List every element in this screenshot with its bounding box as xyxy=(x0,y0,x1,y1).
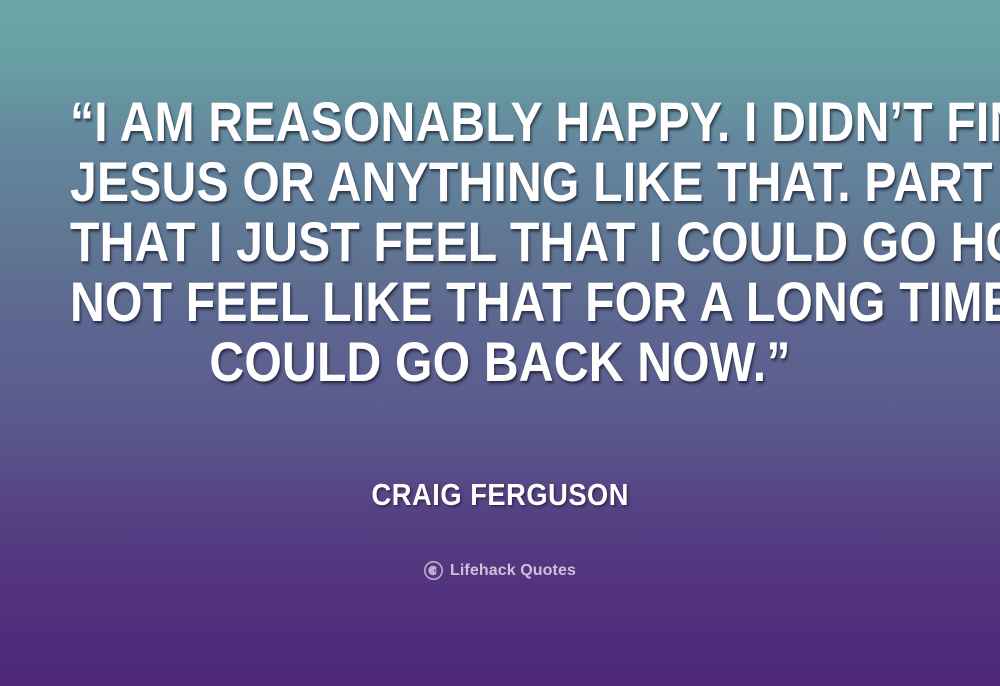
lifehack-circle-logo-icon xyxy=(424,561,443,580)
quote-line-5: COULD GO BACK NOW.” xyxy=(70,332,930,392)
quote-line-1: “I AM REASONABLY HAPPY. I DIDN’T FIND xyxy=(70,92,930,152)
quote-line-4: NOT FEEL LIKE THAT FOR A LONG TIME, BUT … xyxy=(70,272,930,332)
author-name: CRAIG FERGUSON xyxy=(371,478,628,512)
watermark-label: Lifehack Quotes xyxy=(450,561,576,580)
quote-text-block: “I AM REASONABLY HAPPY. I DIDN’T FIND JE… xyxy=(0,92,1000,392)
watermark: Lifehack Quotes xyxy=(0,561,1000,580)
quote-line-2: JESUS OR ANYTHING LIKE THAT. PART OF IT … xyxy=(70,152,930,212)
quote-line-3: THAT I JUST FEEL THAT I COULD GO HOME. I… xyxy=(70,212,930,272)
attribution: CRAIG FERGUSON xyxy=(0,478,1000,512)
quote-card: “I AM REASONABLY HAPPY. I DIDN’T FIND JE… xyxy=(0,0,1000,686)
